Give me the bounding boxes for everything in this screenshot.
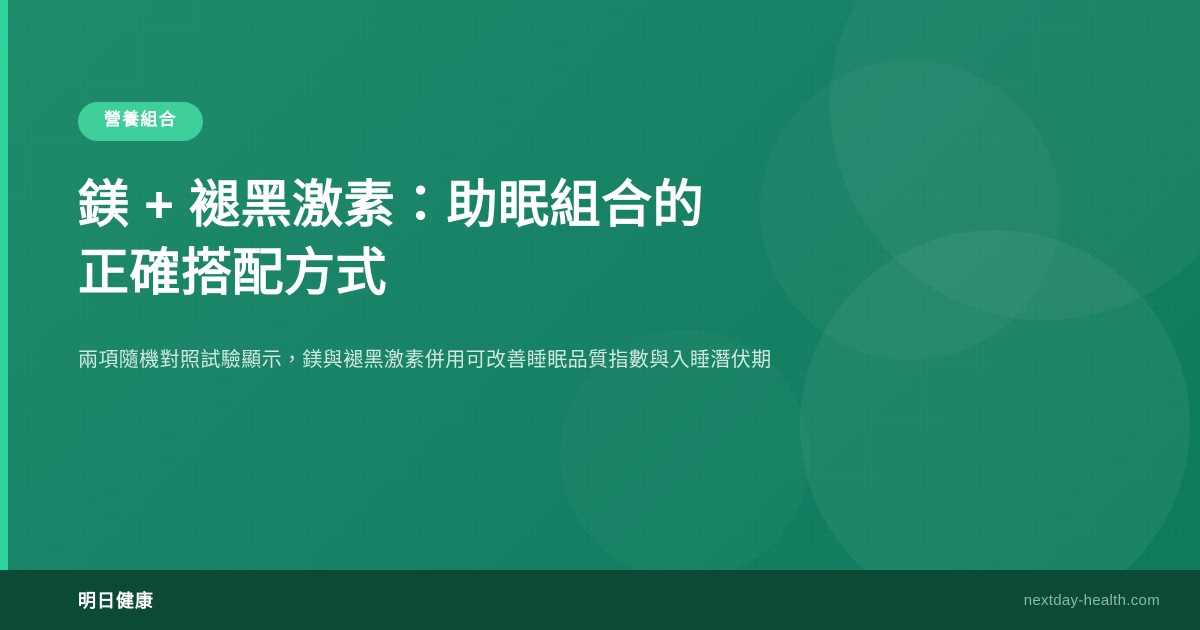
category-badge: 營養組合 [78,102,203,141]
footer-bar: 明日健康 nextday-health.com [0,570,1200,630]
title-line-2: 正確搭配方式 [78,239,858,307]
title-line-1: 鎂 + 褪黑激素：助眠組合的 [78,171,858,239]
page-title: 鎂 + 褪黑激素：助眠組合的 正確搭配方式 [78,171,858,307]
card-content: 營養組合 鎂 + 褪黑激素：助眠組合的 正確搭配方式 兩項隨機對照試驗顯示，鎂與… [78,0,1098,375]
footer-site-url: nextday-health.com [1024,592,1160,609]
left-accent-bar [0,0,8,630]
page-subtitle: 兩項隨機對照試驗顯示，鎂與褪黑激素併用可改善睡眠品質指數與入睡潛伏期 [78,345,978,375]
footer-brand-name: 明日健康 [78,587,154,613]
social-share-card: 營養組合 鎂 + 褪黑激素：助眠組合的 正確搭配方式 兩項隨機對照試驗顯示，鎂與… [0,0,1200,630]
